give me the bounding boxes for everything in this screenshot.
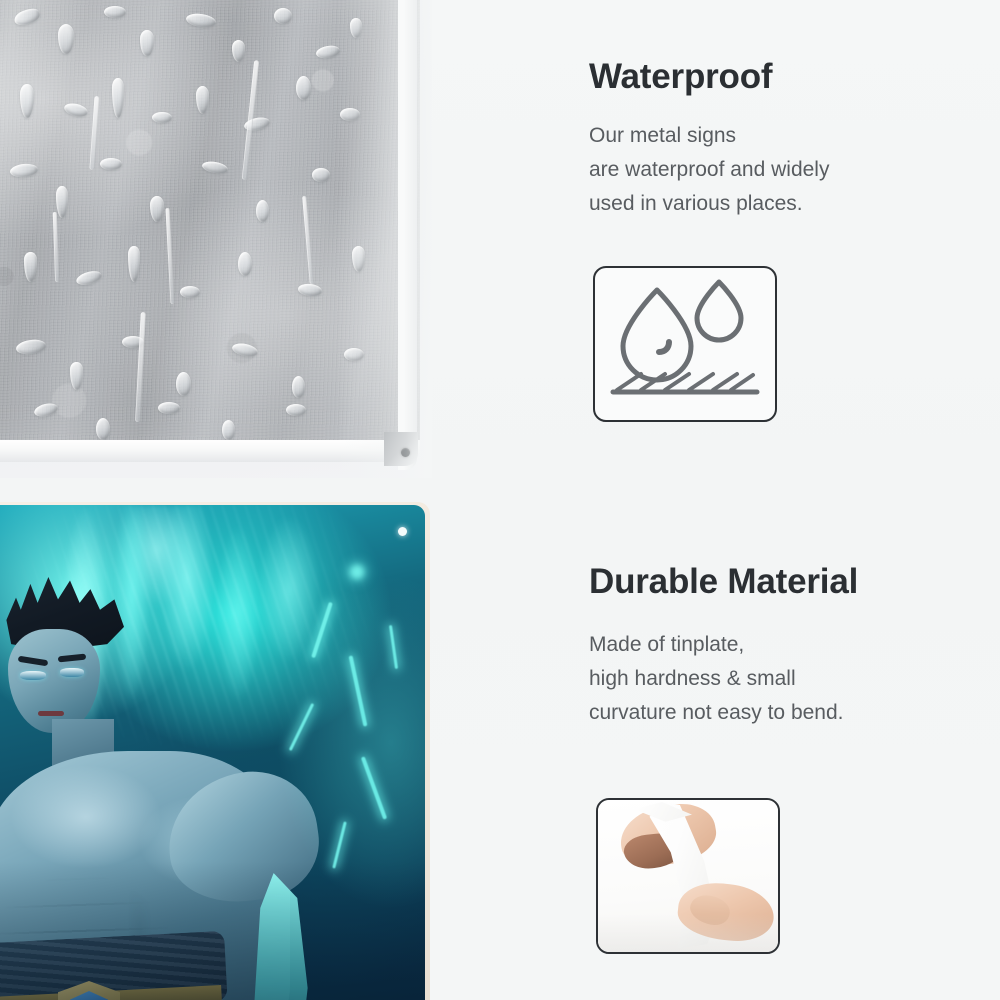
bending-demo-photo [598,800,778,952]
page-title-durable: Durable Material [589,563,858,602]
surface-hatching [617,374,753,390]
photo-floor-shadow [598,914,778,952]
artwork-surface [0,505,425,1000]
sign-mounting-hole [398,527,407,536]
feature-section-durable: Durable Material Made of tinplate, high … [589,563,858,730]
water-droplet-surface-icon [593,266,777,422]
character-mouth [38,711,64,716]
water-droplets-layer [0,0,432,478]
water-droplet-surface-glyph [595,268,775,420]
small-droplet-outline [697,282,741,340]
large-droplet-outline [623,290,691,380]
anime-warrior-metal-sign-photo [0,502,430,1000]
character-eye-right [60,668,84,677]
feature-description-durable: Made of tinplate, high hardness & small … [589,628,858,730]
droplet-highlight [659,342,669,352]
product-feature-page: Waterproof Our metal signs are waterproo… [0,0,1000,1000]
character-eye-left [20,671,46,680]
page-title-waterproof: Waterproof [589,58,829,97]
feature-section-waterproof: Waterproof Our metal signs are waterproo… [589,58,829,221]
sign-edge-right [398,0,417,470]
sign-edge-bottom [0,440,420,462]
feature-description-waterproof: Our metal signs are waterproof and widel… [589,119,829,221]
wet-metal-sign-photo [0,0,432,478]
sign-mounting-hole [401,448,410,457]
hands-bending-sheet-icon [596,798,780,954]
